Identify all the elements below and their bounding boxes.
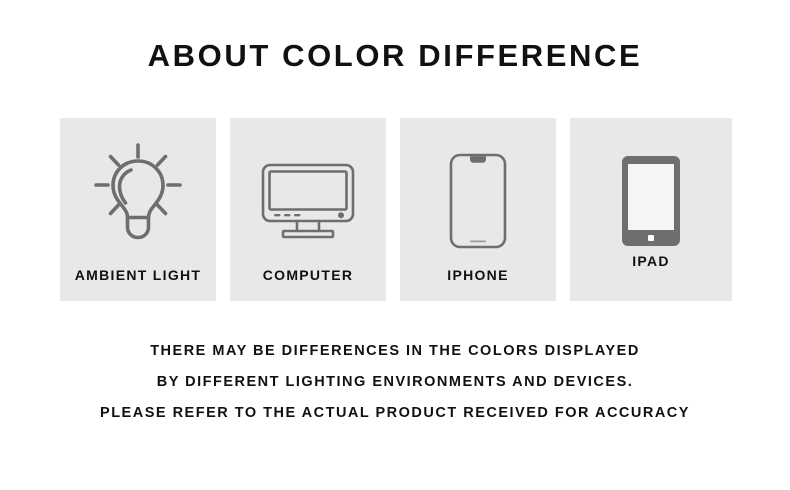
device-card-label: IPHONE [400, 267, 556, 283]
color-difference-infographic: ABOUT COLOR DIFFERENCE [0, 0, 790, 490]
disclaimer-line: PLEASE REFER TO THE ACTUAL PRODUCT RECEI… [0, 398, 790, 429]
iphone-icon [400, 146, 556, 256]
device-card-iphone: IPHONE [400, 118, 556, 301]
disclaimer-text: THERE MAY BE DIFFERENCES IN THE COLORS D… [0, 336, 790, 429]
ipad-icon [570, 148, 732, 253]
device-card-label: IPAD [570, 253, 732, 269]
device-card-label: AMBIENT LIGHT [60, 267, 216, 283]
device-card-label: COMPUTER [230, 267, 386, 283]
device-card-ambient-light: AMBIENT LIGHT [60, 118, 216, 301]
page-title: ABOUT COLOR DIFFERENCE [0, 38, 790, 74]
device-card-row: AMBIENT LIGHT [60, 118, 732, 301]
computer-monitor-icon [230, 148, 386, 253]
disclaimer-line: THERE MAY BE DIFFERENCES IN THE COLORS D… [0, 336, 790, 367]
lightbulb-icon [60, 136, 216, 251]
disclaimer-line: BY DIFFERENT LIGHTING ENVIRONMENTS AND D… [0, 367, 790, 398]
device-card-ipad: IPAD [570, 118, 732, 301]
device-card-computer: COMPUTER [230, 118, 386, 301]
